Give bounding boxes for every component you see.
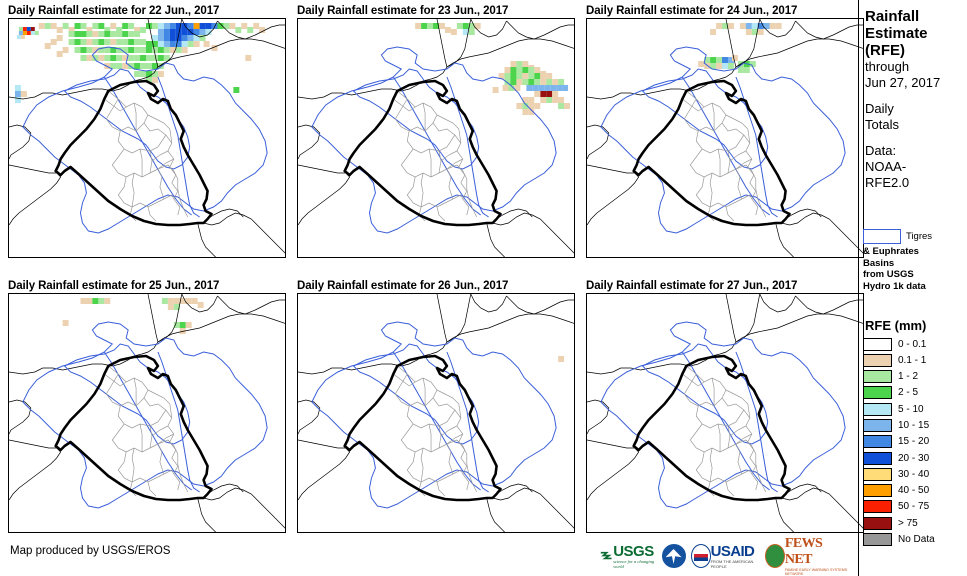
legend-rows: 0 - 0.10.1 - 11 - 22 - 55 - 1010 - 1515 …	[863, 337, 967, 547]
panel-6: Daily Rainfall estimate for 27 Jun., 201…	[586, 279, 864, 533]
panel-5: Daily Rainfall estimate for 26 Jun., 201…	[297, 279, 575, 533]
legend-label: 1 - 2	[898, 371, 918, 382]
legend-swatch	[863, 338, 892, 351]
map-frame-2[interactable]	[297, 18, 575, 258]
legend-label: No Data	[898, 534, 935, 545]
legend-item: 30 - 40	[863, 467, 967, 481]
panel-title-6: Daily Rainfall estimate for 27 Jun., 201…	[586, 279, 864, 293]
legend-swatch	[863, 500, 892, 513]
panel-4: Daily Rainfall estimate for 25 Jun., 201…	[8, 279, 286, 533]
legend-swatch	[863, 517, 892, 530]
panel-title-5: Daily Rainfall estimate for 26 Jun., 201…	[297, 279, 575, 293]
legend-label: 2 - 5	[898, 387, 918, 398]
rainfall-map-2	[298, 19, 575, 258]
fewsnet-globe-icon	[765, 544, 785, 568]
usaid-logo: USAIDFROM THE AMERICAN PEOPLE	[691, 542, 760, 570]
legend-swatch	[863, 435, 892, 448]
legend-label: 30 - 40	[898, 469, 929, 480]
noaa-seal-icon	[662, 544, 686, 568]
legend-swatch	[863, 484, 892, 497]
legend-swatch	[863, 452, 892, 465]
legend-item: 0.1 - 1	[863, 353, 967, 367]
rainfall-map-1	[9, 19, 286, 258]
sidebar-title-line3: (RFE)	[859, 42, 967, 59]
legend-item: 0 - 0.1	[863, 337, 967, 351]
rainfall-map-3	[587, 19, 864, 258]
basin-label-2: & Euphrates	[863, 246, 967, 258]
panel-3: Daily Rainfall estimate for 24 Jun., 201…	[586, 4, 864, 258]
legend-label: 40 - 50	[898, 485, 929, 496]
legend-label: > 75	[898, 518, 918, 529]
legend-swatch	[863, 370, 892, 383]
sidebar-through-date: Jun 27, 2017	[859, 75, 967, 91]
legend-label: 20 - 30	[898, 453, 929, 464]
rainfall-map-5	[298, 294, 575, 533]
panel-title-3: Daily Rainfall estimate for 24 Jun., 201…	[586, 4, 864, 18]
usgs-wordmark: USGSscience for a changing world	[613, 543, 656, 569]
panel-2: Daily Rainfall estimate for 23 Jun., 201…	[297, 4, 575, 258]
basin-label-5: Hydro 1k data	[863, 281, 967, 293]
legend-label: 10 - 15	[898, 420, 929, 431]
rfe-legend: RFE (mm) 0 - 0.10.1 - 11 - 22 - 55 - 101…	[863, 318, 967, 549]
rainfall-map-6	[587, 294, 864, 533]
legend-item: 15 - 20	[863, 435, 967, 449]
basin-legend: Tigres & Euphrates Basins from USGS Hydr…	[863, 228, 967, 292]
legend-label: 0.1 - 1	[898, 355, 926, 366]
panel-title-4: Daily Rainfall estimate for 25 Jun., 201…	[8, 279, 286, 293]
legend-item: 50 - 75	[863, 500, 967, 514]
usaid-seal-icon	[691, 544, 711, 568]
sidebar: Rainfall Estimate (RFE) through Jun 27, …	[858, 0, 967, 576]
legend-item: > 75	[863, 516, 967, 530]
map-frame-4[interactable]	[8, 293, 286, 533]
basin-swatch	[863, 229, 901, 244]
legend-label: 0 - 0.1	[898, 339, 926, 350]
fewsnet-wordmark: FEWS NETFAMINE EARLY WARNING SYSTEMS NET…	[785, 536, 852, 576]
noaa-logo	[662, 542, 686, 570]
sidebar-data-line2: NOAA-	[859, 159, 967, 175]
rainfall-cells-5	[558, 356, 564, 362]
panel-title-1: Daily Rainfall estimate for 22 Jun., 201…	[8, 4, 286, 18]
legend-item: 20 - 30	[863, 451, 967, 465]
map-frame-5[interactable]	[297, 293, 575, 533]
legend-swatch	[863, 468, 892, 481]
legend-swatch	[863, 354, 892, 367]
agency-logos: USGSscience for a changing world USAIDFR…	[600, 540, 852, 572]
sidebar-title-line1: Rainfall	[859, 8, 967, 25]
rainfall-map-4	[9, 294, 286, 533]
sidebar-title-line2: Estimate	[859, 25, 967, 42]
sidebar-data-line3: RFE2.0	[859, 175, 967, 191]
legend-item: No Data	[863, 533, 967, 547]
legend-item: 40 - 50	[863, 484, 967, 498]
legend-label: 15 - 20	[898, 436, 929, 447]
sidebar-through: through	[859, 59, 967, 75]
basin-label-3: Basins	[863, 258, 967, 270]
legend-item: 5 - 10	[863, 402, 967, 416]
legend-item: 1 - 2	[863, 370, 967, 384]
usaid-wordmark: USAIDFROM THE AMERICAN PEOPLE	[711, 543, 760, 569]
fewsnet-logo: FEWS NETFAMINE EARLY WARNING SYSTEMS NET…	[765, 542, 852, 570]
legend-swatch	[863, 386, 892, 399]
legend-swatch	[863, 419, 892, 432]
sidebar-data-line1: Data:	[859, 143, 967, 159]
map-credit: Map produced by USGS/EROS	[10, 545, 170, 557]
usgs-logo: USGSscience for a changing world	[600, 542, 657, 570]
legend-item: 10 - 15	[863, 418, 967, 432]
legend-item: 2 - 5	[863, 386, 967, 400]
sidebar-totals-line1: Daily	[859, 101, 967, 117]
sidebar-totals-line2: Totals	[859, 117, 967, 133]
legend-swatch	[863, 533, 892, 546]
basin-label-1: Tigres	[906, 231, 932, 242]
legend-label: 50 - 75	[898, 501, 929, 512]
legend-title: RFE (mm)	[865, 318, 967, 333]
basin-label-4: from USGS	[863, 269, 967, 281]
map-frame-3[interactable]	[586, 18, 864, 258]
legend-swatch	[863, 403, 892, 416]
legend-label: 5 - 10	[898, 404, 924, 415]
usgs-wave-icon	[600, 548, 613, 564]
panel-1: Daily Rainfall estimate for 22 Jun., 201…	[8, 4, 286, 258]
map-frame-1[interactable]	[8, 18, 286, 258]
panel-title-2: Daily Rainfall estimate for 23 Jun., 201…	[297, 4, 575, 18]
map-frame-6[interactable]	[586, 293, 864, 533]
